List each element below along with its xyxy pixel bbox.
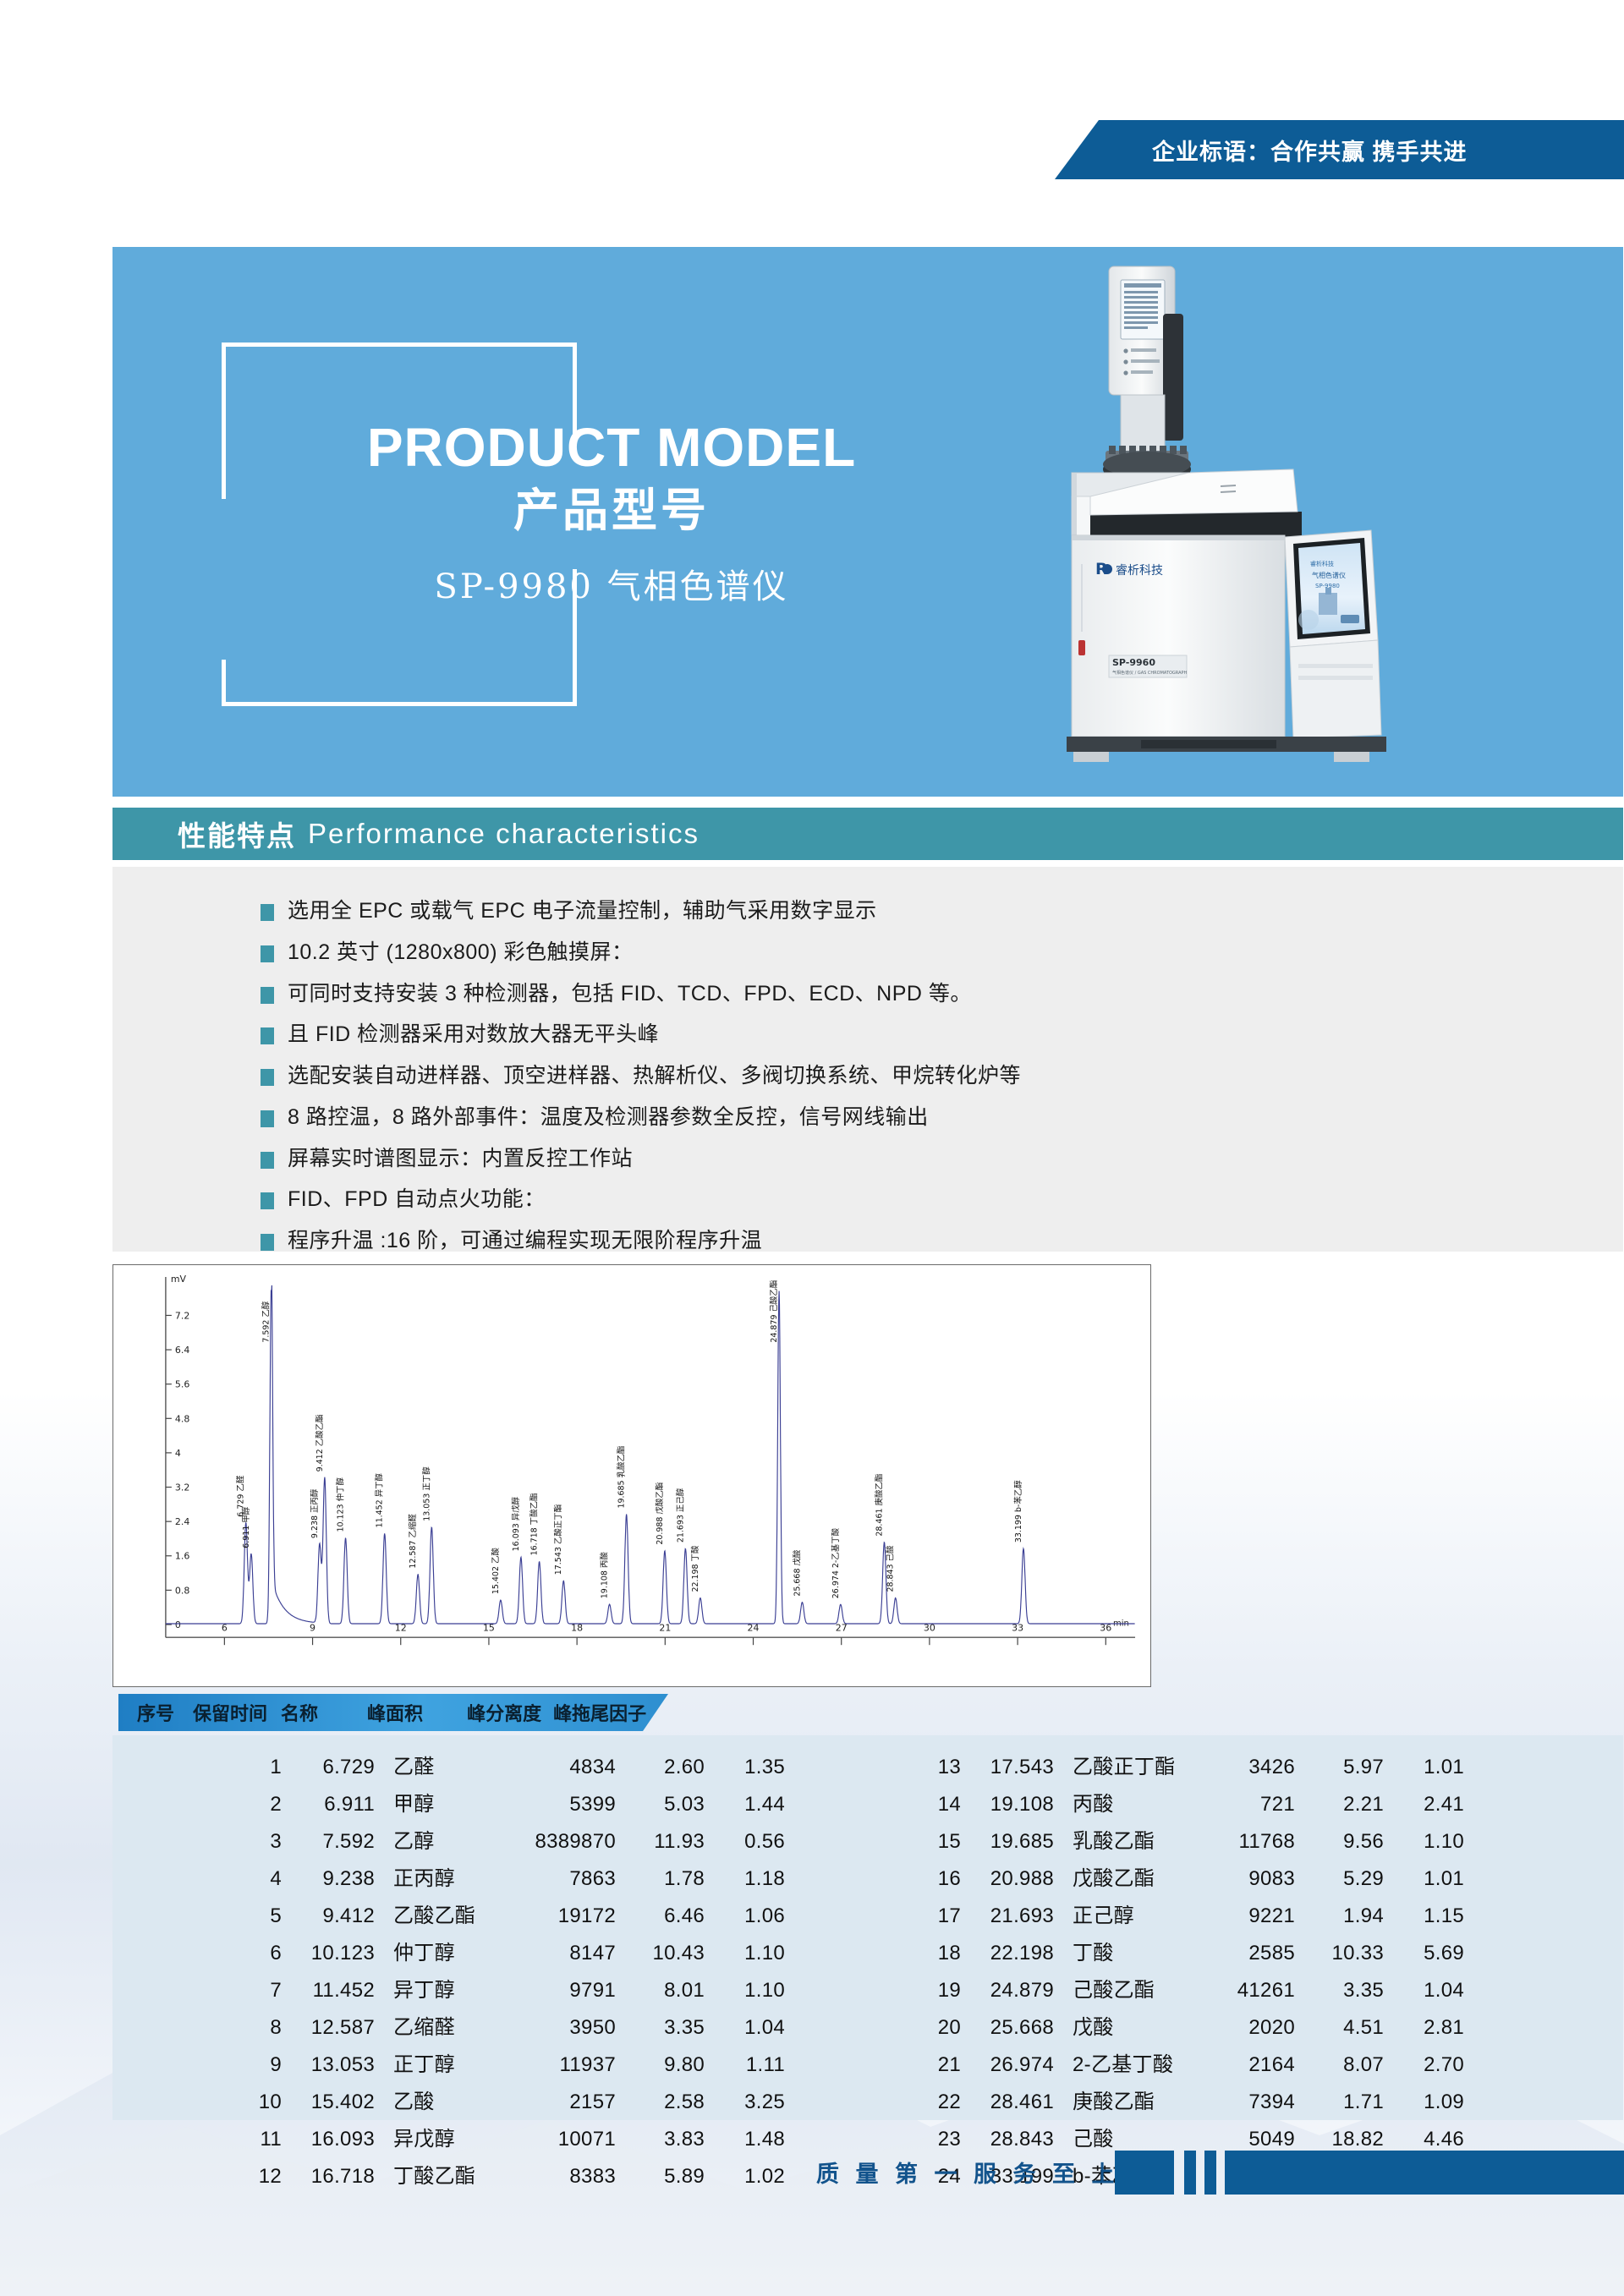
- header-tailing: 峰拖尾因子: [553, 1699, 646, 1726]
- feature-item: 屏幕实时谱图显示：内置反控工作站: [261, 1147, 1623, 1171]
- cell-area: 2585: [1181, 1943, 1295, 1964]
- header-no: 序号: [137, 1699, 174, 1726]
- cell-no: 19: [927, 1981, 961, 2001]
- feature-item: 选配安装自动进样器、顶空进样器、热解析仪、多阀切换系统、甲烷转化炉等: [261, 1064, 1623, 1088]
- cell-rt: 19.108: [961, 1795, 1054, 1815]
- cell-area: 11768: [1181, 1832, 1295, 1852]
- svg-text:13.053 正丁醇: 13.053 正丁醇: [421, 1466, 431, 1521]
- table-row: 913.053正丁醇119379.801.11: [248, 2055, 868, 2075]
- cell-name: 正丁醇: [375, 2055, 502, 2075]
- cell-no: 20: [927, 2018, 961, 2038]
- svg-text:睿析科技: 睿析科技: [1310, 560, 1334, 567]
- cell-no: 22: [927, 2092, 961, 2112]
- top-slogan-banner: 企业标语：合作共赢 携手共进: [1055, 120, 1624, 179]
- cell-area: 9221: [1181, 1906, 1295, 1926]
- svg-text:3.2: 3.2: [175, 1482, 189, 1493]
- cell-res: 8.01: [616, 1981, 705, 2001]
- cell-tail: 1.44: [705, 1795, 785, 1815]
- cell-rt: 6.729: [282, 1757, 375, 1778]
- cell-area: 9083: [1181, 1869, 1295, 1889]
- cell-no: 10: [248, 2092, 282, 2112]
- cell-rt: 15.402: [282, 2092, 375, 2112]
- cell-name: 正丙醇: [375, 1869, 502, 1889]
- cell-tail: 1.01: [1384, 1757, 1464, 1778]
- cell-rt: 28.461: [961, 2092, 1054, 2112]
- cell-rt: 9.238: [282, 1869, 375, 1889]
- table-row: 49.238正丙醇78631.781.18: [248, 1869, 868, 1889]
- square-bullet-icon: [261, 1152, 274, 1169]
- frame-gap-left: [221, 499, 229, 660]
- cell-rt: 28.843: [961, 2129, 1054, 2150]
- footer-bar-3: [1204, 2151, 1216, 2195]
- cell-area: 7394: [1181, 2092, 1295, 2112]
- cell-rt: 12.587: [282, 2018, 375, 2038]
- cell-res: 2.58: [616, 2092, 705, 2112]
- table-row: 711.452异丁醇97918.011.10: [248, 1981, 868, 2001]
- cell-res: 4.51: [1295, 2018, 1384, 2038]
- cell-name: 乙醛: [375, 1757, 502, 1778]
- cell-tail: 4.46: [1384, 2129, 1464, 2150]
- cell-tail: 1.48: [705, 2129, 785, 2150]
- top-slogan-text: 企业标语：合作共赢 携手共进: [1152, 134, 1468, 167]
- cell-rt: 21.693: [961, 1906, 1054, 1926]
- square-bullet-icon: [261, 1027, 274, 1044]
- cell-name: 乙酸乙酯: [375, 1906, 502, 1926]
- cell-rt: 7.592: [282, 1832, 375, 1852]
- cell-res: 8.07: [1295, 2055, 1384, 2075]
- svg-text:4.8: 4.8: [175, 1413, 189, 1424]
- cell-no: 2: [248, 1795, 282, 1815]
- svg-text:28.843 己酸: 28.843 己酸: [886, 1545, 896, 1592]
- cell-no: 7: [248, 1981, 282, 2001]
- cell-tail: 1.15: [1384, 1906, 1464, 1926]
- cell-name: 正己醇: [1054, 1906, 1181, 1926]
- feature-text: 且 FID 检测器采用对数放大器无平头峰: [288, 1022, 659, 1047]
- cell-no: 6: [248, 1943, 282, 1964]
- svg-text:2.4: 2.4: [175, 1516, 189, 1527]
- cell-area: 8389870: [502, 1832, 616, 1852]
- cell-tail: 0.56: [705, 1832, 785, 1852]
- product-photo: R 睿析科技 SP-9960 气相色谱仪 / GAS CHROMATOGRAPH…: [1040, 247, 1564, 797]
- svg-text:19.108 丙酸: 19.108 丙酸: [600, 1552, 610, 1599]
- cell-rt: 9.412: [282, 1906, 375, 1926]
- square-bullet-icon: [261, 1110, 274, 1127]
- cell-name: 甲醇: [375, 1795, 502, 1815]
- cell-name: 乙醇: [375, 1832, 502, 1852]
- hero-model-name: SP-9980 气相色谱仪: [290, 559, 933, 608]
- cell-name: 乳酸乙酯: [1054, 1832, 1181, 1852]
- cell-rt: 20.988: [961, 1869, 1054, 1889]
- header-area: 峰面积: [367, 1699, 423, 1726]
- svg-text:15.402 乙酸: 15.402 乙酸: [491, 1548, 501, 1595]
- svg-text:气相色谱仪: 气相色谱仪: [1312, 571, 1346, 579]
- cell-tail: 1.09: [1384, 2092, 1464, 2112]
- svg-text:12.587 乙缩醛: 12.587 乙缩醛: [408, 1514, 418, 1569]
- svg-text:9.412 乙酸乙酯: 9.412 乙酸乙酯: [315, 1414, 325, 1471]
- cell-res: 5.97: [1295, 1757, 1384, 1778]
- cell-res: 2.60: [616, 1757, 705, 1778]
- cell-rt: 17.543: [961, 1757, 1054, 1778]
- chromatogram-chart: mVmin00.81.62.43.244.85.66.47.2691215182…: [112, 1264, 1151, 1687]
- cell-res: 3.35: [1295, 1981, 1384, 2001]
- cell-no: 4: [248, 1869, 282, 1889]
- peak-data-panel: 16.729乙醛48342.601.3526.911甲醇53995.031.44…: [112, 1735, 1623, 2120]
- cell-area: 7863: [502, 1869, 616, 1889]
- table-row: 59.412乙酸乙酯191726.461.06: [248, 1906, 868, 1926]
- cell-tail: 1.35: [705, 1757, 785, 1778]
- table-row: 2228.461庚酸乙酯73941.711.09: [927, 2092, 1623, 2112]
- square-bullet-icon: [261, 945, 274, 962]
- cell-rt: 19.685: [961, 1832, 1054, 1852]
- cell-res: 6.46: [616, 1906, 705, 1926]
- svg-text:0: 0: [175, 1619, 181, 1630]
- svg-text:SP-9960: SP-9960: [1112, 657, 1155, 668]
- feature-item: 程序升温 :16 阶，可通过编程实现无限阶程序升温: [261, 1229, 1623, 1253]
- cell-area: 5399: [502, 1795, 616, 1815]
- page-footer: 质 量 第 一 服 务 至 上: [0, 2151, 1624, 2195]
- footer-slogan: 质 量 第 一 服 务 至 上: [816, 2156, 1120, 2189]
- cell-no: 5: [248, 1906, 282, 1926]
- table-row: 16.729乙醛48342.601.35: [248, 1757, 868, 1778]
- cell-res: 18.82: [1295, 2129, 1384, 2150]
- svg-text:16.718 丁酸乙酯: 16.718 丁酸乙酯: [529, 1493, 540, 1555]
- cell-res: 1.94: [1295, 1906, 1384, 1926]
- cell-res: 11.93: [616, 1832, 705, 1852]
- hero-text-block: PRODUCT MODEL 产品型号 SP-9980 气相色谱仪: [290, 420, 933, 608]
- cell-name: 乙酸: [375, 2092, 502, 2112]
- cell-tail: 5.69: [1384, 1943, 1464, 1964]
- table-row: 1419.108丙酸7212.212.41: [927, 1795, 1623, 1815]
- feature-text: 屏幕实时谱图显示：内置反控工作站: [288, 1147, 633, 1171]
- cell-tail: 1.10: [1384, 1832, 1464, 1852]
- cell-res: 10.43: [616, 1943, 705, 1964]
- cell-no: 17: [927, 1906, 961, 1926]
- svg-text:6.911 甲醇: 6.911 甲醇: [241, 1506, 251, 1548]
- table-row: 1620.988戊酸乙酯90835.291.01: [927, 1869, 1623, 1889]
- table-row: 812.587乙缩醛39503.351.04: [248, 2018, 868, 2038]
- svg-text:22.198 丁酸: 22.198 丁酸: [690, 1545, 700, 1592]
- cell-area: 10071: [502, 2129, 616, 2150]
- table-row: 2025.668戊酸20204.512.81: [927, 2018, 1623, 2038]
- feature-text: 程序升温 :16 阶，可通过编程实现无限阶程序升温: [288, 1229, 762, 1253]
- cell-no: 18: [927, 1943, 961, 1964]
- cell-area: 2157: [502, 2092, 616, 2112]
- svg-text:6.4: 6.4: [175, 1345, 189, 1356]
- cell-area: 8147: [502, 1943, 616, 1964]
- cell-res: 2.21: [1295, 1795, 1384, 1815]
- cell-no: 15: [927, 1832, 961, 1852]
- table-row: 2126.9742-乙基丁酸21648.072.70: [927, 2055, 1623, 2075]
- feature-item: FID、FPD 自动点火功能：: [261, 1187, 1623, 1212]
- svg-text:20.988 戊酸乙酯: 20.988 戊酸乙酯: [655, 1482, 665, 1545]
- cell-no: 14: [927, 1795, 961, 1815]
- svg-text:9: 9: [310, 1622, 315, 1633]
- svg-text:16.093 异戊醇: 16.093 异戊醇: [511, 1496, 521, 1551]
- peak-table-left-column: 16.729乙醛48342.601.3526.911甲醇53995.031.44…: [112, 1757, 868, 2204]
- header-name: 名称: [281, 1699, 318, 1726]
- cell-res: 9.80: [616, 2055, 705, 2075]
- cell-name: 2-乙基丁酸: [1054, 2055, 1181, 2075]
- svg-text:10.123 仲丁醇: 10.123 仲丁醇: [336, 1477, 346, 1532]
- table-row: 1317.543乙酸正丁酯34265.971.01: [927, 1757, 1623, 1778]
- cell-rt: 6.911: [282, 1795, 375, 1815]
- table-row: 37.592乙醇838987011.930.56: [248, 1832, 868, 1852]
- cell-res: 10.33: [1295, 1943, 1384, 1964]
- cell-area: 4834: [502, 1757, 616, 1778]
- cell-no: 23: [927, 2129, 961, 2150]
- cell-tail: 3.25: [705, 2092, 785, 2112]
- cell-area: 3426: [1181, 1757, 1295, 1778]
- cell-no: 11: [248, 2129, 282, 2150]
- cell-no: 13: [927, 1757, 961, 1778]
- cell-no: 21: [927, 2055, 961, 2075]
- feature-text: 选配安装自动进样器、顶空进样器、热解析仪、多阀切换系统、甲烷转化炉等: [288, 1064, 1021, 1088]
- cell-res: 5.29: [1295, 1869, 1384, 1889]
- cell-res: 1.78: [616, 1869, 705, 1889]
- cell-tail: 1.10: [705, 1943, 785, 1964]
- square-bullet-icon: [261, 987, 274, 1004]
- footer-bar-1: [1115, 2151, 1174, 2195]
- cell-tail: 2.70: [1384, 2055, 1464, 2075]
- cell-area: 11937: [502, 2055, 616, 2075]
- table-row: 2328.843己酸504918.824.46: [927, 2129, 1623, 2150]
- svg-text:21: 21: [659, 1622, 671, 1633]
- svg-text:1.6: 1.6: [175, 1551, 189, 1562]
- cell-name: 己酸: [1054, 2129, 1181, 2150]
- svg-text:mV: mV: [171, 1274, 187, 1285]
- feature-text: 选用全 EPC 或载气 EPC 电子流量控制，辅助气采用数字显示: [288, 899, 877, 923]
- svg-text:7.2: 7.2: [175, 1310, 189, 1321]
- table-row: 26.911甲醇53995.031.44: [248, 1795, 868, 1815]
- svg-text:24.879 己酸乙酯: 24.879 己酸乙酯: [769, 1280, 779, 1343]
- table-row: 610.123仲丁醇814710.431.10: [248, 1943, 868, 1964]
- cell-res: 1.71: [1295, 2092, 1384, 2112]
- cell-res: 9.56: [1295, 1832, 1384, 1852]
- svg-text:26.974 2-乙基丁酸: 26.974 2-乙基丁酸: [831, 1527, 841, 1598]
- svg-text:33.199 b-苯乙醇: 33.199 b-苯乙醇: [1013, 1480, 1023, 1543]
- svg-text:5.6: 5.6: [175, 1379, 189, 1390]
- cell-rt: 16.093: [282, 2129, 375, 2150]
- cell-tail: 1.04: [1384, 1981, 1464, 2001]
- cell-tail: 2.41: [1384, 1795, 1464, 1815]
- cell-name: 戊酸乙酯: [1054, 1869, 1181, 1889]
- feature-text: FID、FPD 自动点火功能：: [288, 1187, 546, 1212]
- cell-name: 乙酸正丁酯: [1054, 1757, 1181, 1778]
- footer-bar-4: [1225, 2151, 1624, 2195]
- section-title-cn: 性能特点: [178, 814, 296, 854]
- cell-res: 3.83: [616, 2129, 705, 2150]
- svg-text:0.8: 0.8: [175, 1585, 189, 1596]
- cell-rt: 26.974: [961, 2055, 1054, 2075]
- svg-text:睿析科技: 睿析科技: [1116, 564, 1163, 578]
- cell-area: 5049: [1181, 2129, 1295, 2150]
- cell-res: 3.35: [616, 2018, 705, 2038]
- footer-bar-2: [1184, 2151, 1196, 2195]
- performance-section-header: 性能特点 Performance characteristics: [112, 808, 1623, 860]
- feature-text: 8 路控温，8 路外部事件：温度及检测器参数全反控，信号网线输出: [288, 1105, 929, 1130]
- cell-tail: 1.01: [1384, 1869, 1464, 1889]
- cell-area: 721: [1181, 1795, 1295, 1815]
- table-row: 1924.879己酸乙酯412613.351.04: [927, 1981, 1623, 2001]
- svg-text:4: 4: [175, 1448, 181, 1459]
- cell-no: 16: [927, 1869, 961, 1889]
- header-rt: 保留时间: [193, 1699, 267, 1726]
- cell-rt: 13.053: [282, 2055, 375, 2075]
- table-row: 1822.198丁酸258510.335.69: [927, 1943, 1623, 1964]
- square-bullet-icon: [261, 1192, 274, 1209]
- header-resolution: 峰分离度: [467, 1699, 541, 1726]
- hero-title-en: PRODUCT MODEL: [290, 420, 933, 474]
- svg-text:28.461 庚酸乙酯: 28.461 庚酸乙酯: [874, 1474, 884, 1537]
- svg-text:7.592 乙醇: 7.592 乙醇: [261, 1301, 272, 1343]
- feature-item: 10.2 英寸 (1280x800) 彩色触摸屏：: [261, 940, 1623, 965]
- section-title-en: Performance characteristics: [308, 818, 700, 850]
- cell-area: 41261: [1181, 1981, 1295, 2001]
- cell-res: 5.03: [616, 1795, 705, 1815]
- cell-area: 3950: [502, 2018, 616, 2038]
- cell-area: 19172: [502, 1906, 616, 1926]
- svg-text:17.543 乙酸正丁酯: 17.543 乙酸正丁酯: [553, 1504, 563, 1575]
- cell-name: 丙酸: [1054, 1795, 1181, 1815]
- svg-text:9.238 正丙醇: 9.238 正丙醇: [310, 1488, 320, 1538]
- features-list: 选用全 EPC 或载气 EPC 电子流量控制，辅助气采用数字显示 10.2 英寸…: [112, 867, 1623, 1252]
- cell-no: 9: [248, 2055, 282, 2075]
- feature-item: 可同时支持安装 3 种检测器，包括 FID、TCD、FPD、ECD、NPD 等。: [261, 982, 1623, 1006]
- square-bullet-icon: [261, 904, 274, 921]
- svg-text:25.668 戊酸: 25.668 戊酸: [792, 1549, 802, 1597]
- cell-tail: 1.06: [705, 1906, 785, 1926]
- peak-table-right-column: 1317.543乙酸正丁酯34265.971.011419.108丙酸7212.…: [868, 1757, 1623, 2204]
- feature-text: 可同时支持安装 3 种检测器，包括 FID、TCD、FPD、ECD、NPD 等。: [288, 982, 972, 1006]
- feature-item: 且 FID 检测器采用对数放大器无平头峰: [261, 1022, 1623, 1047]
- table-row: 1721.693正己醇92211.941.15: [927, 1906, 1623, 1926]
- cell-area: 2020: [1181, 2018, 1295, 2038]
- feature-item: 8 路控温，8 路外部事件：温度及检测器参数全反控，信号网线输出: [261, 1105, 1623, 1130]
- cell-tail: 1.11: [705, 2055, 785, 2075]
- cell-no: 1: [248, 1757, 282, 1778]
- cell-tail: 1.10: [705, 1981, 785, 2001]
- cell-name: 异丁醇: [375, 1981, 502, 2001]
- feature-text: 10.2 英寸 (1280x800) 彩色触摸屏：: [288, 940, 633, 965]
- cell-no: 8: [248, 2018, 282, 2038]
- svg-text:11.452 异丁醇: 11.452 异丁醇: [375, 1472, 385, 1527]
- cell-name: 异戊醇: [375, 2129, 502, 2150]
- cell-name: 戊酸: [1054, 2018, 1181, 2038]
- cell-tail: 1.18: [705, 1869, 785, 1889]
- cell-no: 3: [248, 1832, 282, 1852]
- table-row: 1116.093异戊醇100713.831.48: [248, 2129, 868, 2150]
- feature-item: 选用全 EPC 或载气 EPC 电子流量控制，辅助气采用数字显示: [261, 899, 1623, 923]
- cell-tail: 1.04: [705, 2018, 785, 2038]
- cell-name: 庚酸乙酯: [1054, 2092, 1181, 2112]
- cell-name: 乙缩醛: [375, 2018, 502, 2038]
- table-row: 1519.685乳酸乙酯117689.561.10: [927, 1832, 1623, 1852]
- square-bullet-icon: [261, 1234, 274, 1251]
- table-row: 1015.402乙酸21572.583.25: [248, 2092, 868, 2112]
- cell-rt: 24.879: [961, 1981, 1054, 2001]
- square-bullet-icon: [261, 1069, 274, 1086]
- cell-area: 2164: [1181, 2055, 1295, 2075]
- cell-rt: 22.198: [961, 1943, 1054, 1964]
- svg-text:19.685 乳酸乙酯: 19.685 乳酸乙酯: [617, 1446, 627, 1509]
- cell-rt: 25.668: [961, 2018, 1054, 2038]
- cell-name: 丁酸: [1054, 1943, 1181, 1964]
- svg-text:21.693 正己醇: 21.693 正己醇: [675, 1488, 685, 1543]
- cell-rt: 11.452: [282, 1981, 375, 2001]
- hero-title-cn: 产品型号: [290, 483, 933, 540]
- peak-table-header: 序号 保留时间 名称 峰面积 峰分离度 峰拖尾因子: [118, 1694, 668, 1731]
- cell-name: 仲丁醇: [375, 1943, 502, 1964]
- svg-text:气相色谱仪 / GAS CHROMATOGRAPH: 气相色谱仪 / GAS CHROMATOGRAPH: [1112, 670, 1188, 676]
- cell-tail: 2.81: [1384, 2018, 1464, 2038]
- cell-area: 9791: [502, 1981, 616, 2001]
- cell-rt: 10.123: [282, 1943, 375, 1964]
- cell-name: 己酸乙酯: [1054, 1981, 1181, 2001]
- hero-section: PRODUCT MODEL 产品型号 SP-9980 气相色谱仪: [112, 247, 1623, 797]
